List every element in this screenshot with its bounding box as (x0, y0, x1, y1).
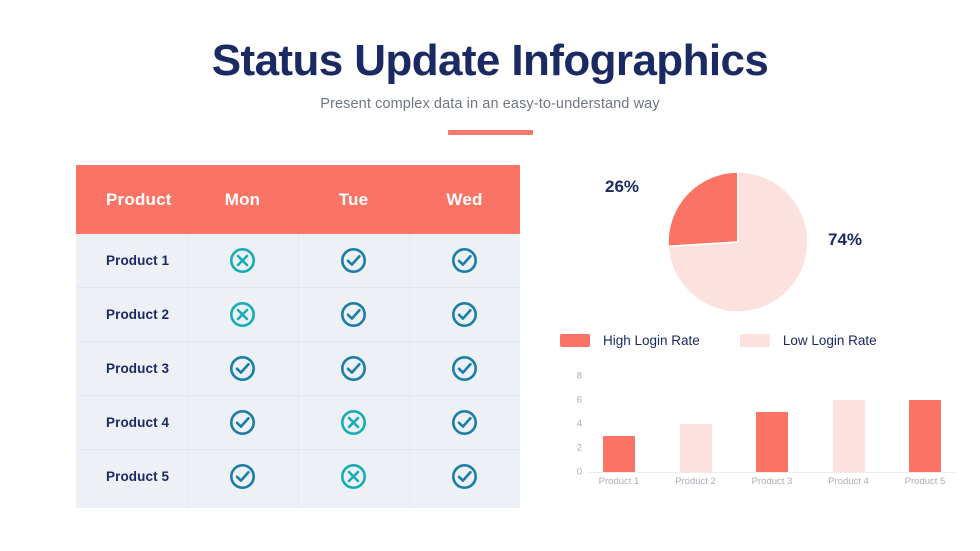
bar-chart-y-axis: 86420 (560, 376, 582, 472)
x-axis-tick-label: Product 5 (894, 476, 956, 487)
pie-chart-section: 26% 74% (560, 165, 960, 315)
table-header-row: Product Mon Tue Wed (76, 165, 520, 234)
legend-item-high-login-rate[interactable]: High Login Rate (560, 333, 700, 348)
pie-value-label-high: 26% (605, 177, 639, 197)
bar-slot (588, 376, 650, 472)
y-axis-tick-label: 8 (577, 371, 582, 382)
page-title: Status Update Infographics (0, 38, 980, 84)
legend-item-low-login-rate[interactable]: Low Login Rate (740, 333, 877, 348)
table-row: Product 5 (76, 450, 520, 509)
table-cell-status-wed[interactable] (409, 288, 520, 342)
bar-product-4[interactable] (833, 400, 865, 472)
table-row: Product 3 (76, 342, 520, 396)
check-circle-icon (340, 247, 367, 274)
table-cell-status-tue[interactable] (298, 234, 409, 288)
table-cell-status-tue[interactable] (298, 396, 409, 450)
pie-slice-high-login-rate[interactable] (668, 172, 738, 246)
product-bar-chart: 86420 Product 1Product 2Product 3Product… (560, 376, 960, 496)
x-axis-tick-label: Product 4 (818, 476, 880, 487)
bar-slot (818, 376, 880, 472)
legend-label: High Login Rate (603, 333, 700, 348)
y-axis-tick-label: 2 (577, 443, 582, 454)
legend-swatch-icon (560, 334, 590, 347)
table-cell-status-mon[interactable] (187, 396, 298, 450)
column-header-wed: Wed (409, 165, 520, 234)
bar-product-5[interactable] (909, 400, 941, 472)
y-axis-tick-label: 4 (577, 419, 582, 430)
legend-swatch-icon (740, 334, 770, 347)
cross-circle-icon (229, 247, 256, 274)
table-header: Product Mon Tue Wed (76, 165, 520, 234)
column-header-product: Product (76, 165, 187, 234)
column-header-mon: Mon (187, 165, 298, 234)
page-subtitle: Present complex data in an easy-to-under… (0, 96, 980, 112)
check-circle-icon (451, 301, 478, 328)
check-circle-icon (451, 355, 478, 382)
table-cell-status-mon[interactable] (187, 450, 298, 509)
table-cell-product-name: Product 2 (76, 288, 187, 342)
slide-header: Status Update Infographics Present compl… (0, 38, 980, 135)
table-row: Product 1 (76, 234, 520, 288)
table-cell-product-name: Product 3 (76, 342, 187, 396)
bar-chart-x-axis: Product 1Product 2Product 3Product 4Prod… (588, 476, 956, 487)
cross-circle-icon (340, 463, 367, 490)
y-axis-tick-label: 0 (577, 467, 582, 478)
chart-legend: High Login RateLow Login Rate (560, 333, 960, 348)
table-row: Product 4 (76, 396, 520, 450)
table-cell-status-mon[interactable] (187, 288, 298, 342)
bar-product-2[interactable] (680, 424, 712, 472)
check-circle-icon (451, 463, 478, 490)
bar-slot (894, 376, 956, 472)
bar-slot (741, 376, 803, 472)
check-circle-icon (229, 463, 256, 490)
cross-circle-icon (340, 409, 367, 436)
column-header-tue: Tue (298, 165, 409, 234)
table-cell-product-name: Product 4 (76, 396, 187, 450)
cross-circle-icon (229, 301, 256, 328)
login-rate-pie-chart (660, 170, 820, 315)
table-body: Product 1Product 2Product 3Product 4Prod… (76, 234, 520, 508)
table-cell-product-name: Product 5 (76, 450, 187, 509)
check-circle-icon (229, 409, 256, 436)
status-table: Product Mon Tue Wed Product 1Product 2Pr… (76, 165, 520, 508)
table-cell-status-wed[interactable] (409, 234, 520, 288)
x-axis-tick-label: Product 1 (588, 476, 650, 487)
check-circle-icon (451, 409, 478, 436)
bar-chart-plot-area (588, 376, 956, 473)
title-accent-bar (448, 130, 533, 135)
table-cell-status-mon[interactable] (187, 234, 298, 288)
check-circle-icon (340, 301, 367, 328)
table-cell-status-tue[interactable] (298, 450, 409, 509)
y-axis-tick-label: 6 (577, 395, 582, 406)
table-cell-status-tue[interactable] (298, 288, 409, 342)
table-cell-status-wed[interactable] (409, 396, 520, 450)
check-circle-icon (229, 355, 256, 382)
table-row: Product 2 (76, 288, 520, 342)
check-circle-icon (451, 247, 478, 274)
x-axis-tick-label: Product 2 (665, 476, 727, 487)
table-cell-status-mon[interactable] (187, 342, 298, 396)
table-cell-status-wed[interactable] (409, 450, 520, 509)
table-cell-status-tue[interactable] (298, 342, 409, 396)
table-cell-status-wed[interactable] (409, 342, 520, 396)
legend-label: Low Login Rate (783, 333, 877, 348)
bar-product-3[interactable] (756, 412, 788, 472)
x-axis-tick-label: Product 3 (741, 476, 803, 487)
bar-product-1[interactable] (603, 436, 635, 472)
bar-slot (665, 376, 727, 472)
pie-value-label-low: 74% (828, 230, 862, 250)
check-circle-icon (340, 355, 367, 382)
table-cell-product-name: Product 1 (76, 234, 187, 288)
